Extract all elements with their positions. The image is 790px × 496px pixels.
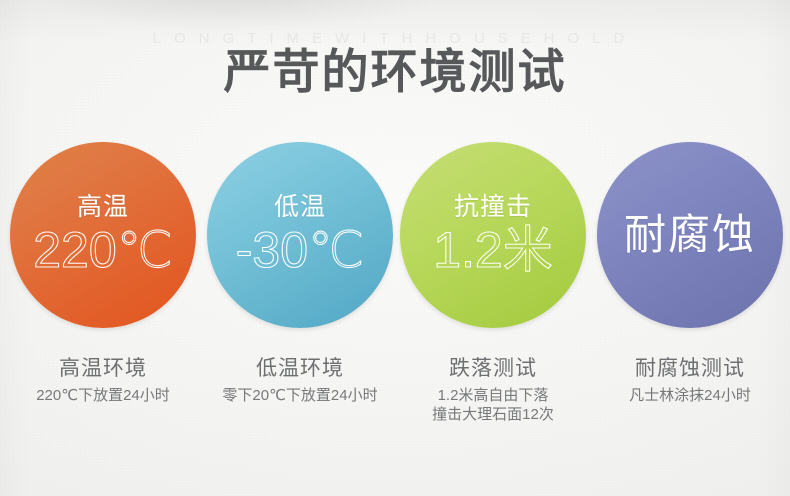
caption-line: 撞击大理石面12次: [395, 405, 591, 424]
caption-line: 凡士林涂抹24小时: [592, 386, 788, 405]
badge-value: 1.2米: [433, 223, 553, 277]
test-caption-row: 高温环境 220℃下放置24小时 低温环境 零下20℃下放置24小时 跌落测试 …: [0, 356, 790, 466]
caption-corrosion-test: 耐腐蚀测试 凡士林涂抹24小时: [592, 356, 788, 405]
badge-value: -30℃: [236, 223, 364, 277]
caption-drop-test: 跌落测试 1.2米高自由下落 撞击大理石面12次: [395, 356, 591, 424]
badge-value: 220℃: [33, 223, 173, 277]
product-feature-panel: LONGTIMEWITHHOUSEHOLD 严苛的环境测试 高温 220℃ 低温…: [0, 0, 790, 496]
caption-high-temperature: 高温环境 220℃下放置24小时: [5, 356, 201, 405]
caption-title: 低温环境: [202, 356, 398, 382]
caption-line: 220℃下放置24小时: [5, 386, 201, 405]
badge-title: 低温: [274, 193, 326, 221]
test-badge-low-temperature: 低温 -30℃: [207, 142, 393, 328]
test-badge-corrosion-resistance: 耐腐蚀: [597, 142, 783, 328]
badge-title: 高温: [77, 193, 129, 221]
caption-low-temperature: 低温环境 零下20℃下放置24小时: [202, 356, 398, 405]
badge-title: 抗撞击: [454, 193, 532, 221]
caption-title: 跌落测试: [395, 356, 591, 382]
test-badge-high-temperature: 高温 220℃: [10, 142, 196, 328]
caption-title: 高温环境: [5, 356, 201, 382]
page-title: 严苛的环境测试: [0, 44, 790, 100]
caption-line: 零下20℃下放置24小时: [202, 386, 398, 405]
badge-title: 耐腐蚀: [624, 211, 756, 259]
caption-line: 1.2米高自由下落: [395, 386, 591, 405]
test-badge-row: 高温 220℃ 低温 -30℃ 抗撞击 1.2米 耐腐蚀: [0, 142, 790, 332]
test-badge-impact-resistance: 抗撞击 1.2米: [400, 142, 586, 328]
caption-title: 耐腐蚀测试: [592, 356, 788, 382]
